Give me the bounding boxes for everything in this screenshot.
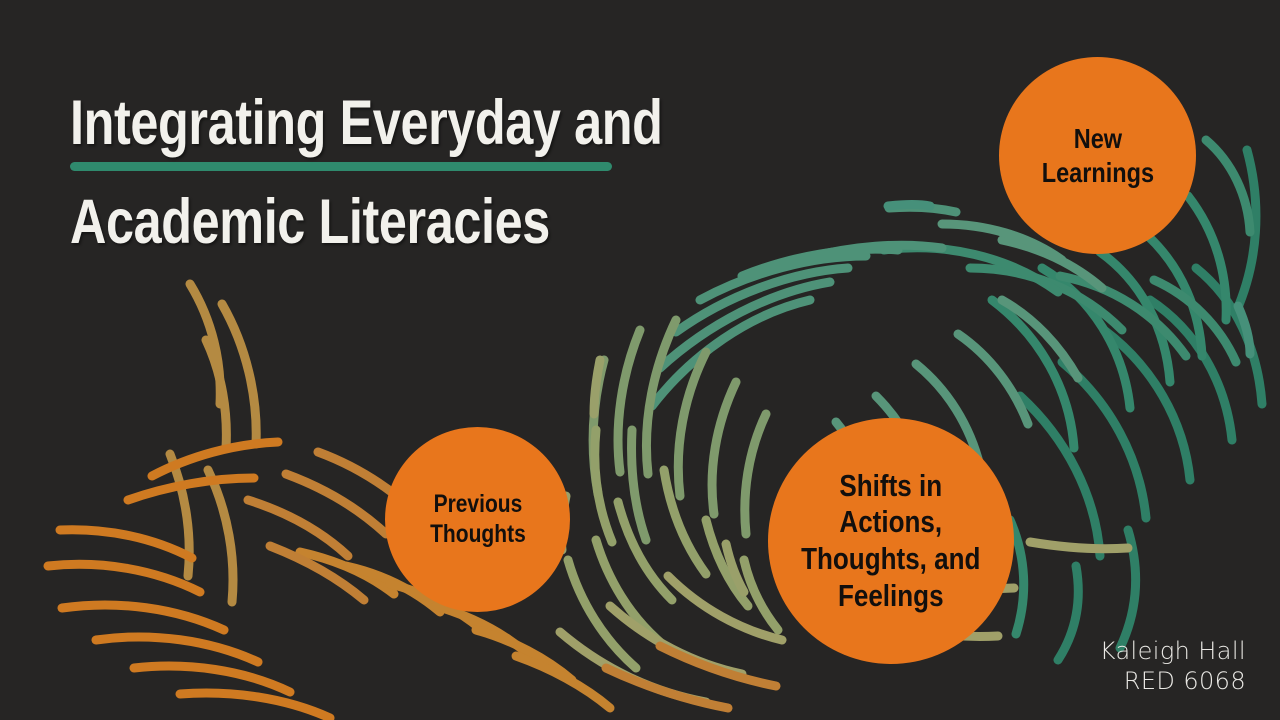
- page-title-line-1: Integrating Everyday and: [70, 92, 582, 155]
- bubble-new-learnings: New Learnings: [999, 57, 1196, 254]
- title-underline-rule: [70, 162, 612, 171]
- bubble-shifts-label: Shifts in Actions, Thoughts, and Feeling…: [801, 468, 980, 614]
- bubble-shifts-in-actions-thoughts-feelings: Shifts in Actions, Thoughts, and Feeling…: [768, 418, 1014, 664]
- title-block: Integrating Everyday and Academic Litera…: [70, 92, 710, 254]
- presentation-slide: Integrating Everyday and Academic Litera…: [0, 0, 1280, 720]
- author-credit: Kaleigh Hall RED 6068: [1100, 637, 1246, 696]
- bubble-previous-thoughts-label: Previous Thoughts: [430, 490, 526, 549]
- course-code: RED 6068: [1100, 667, 1246, 696]
- bubble-new-learnings-label: New Learnings: [1041, 122, 1153, 188]
- bubble-previous-thoughts: Previous Thoughts: [385, 427, 570, 612]
- page-title-line-2: Academic Literacies: [70, 191, 582, 254]
- author-name: Kaleigh Hall: [1100, 637, 1246, 666]
